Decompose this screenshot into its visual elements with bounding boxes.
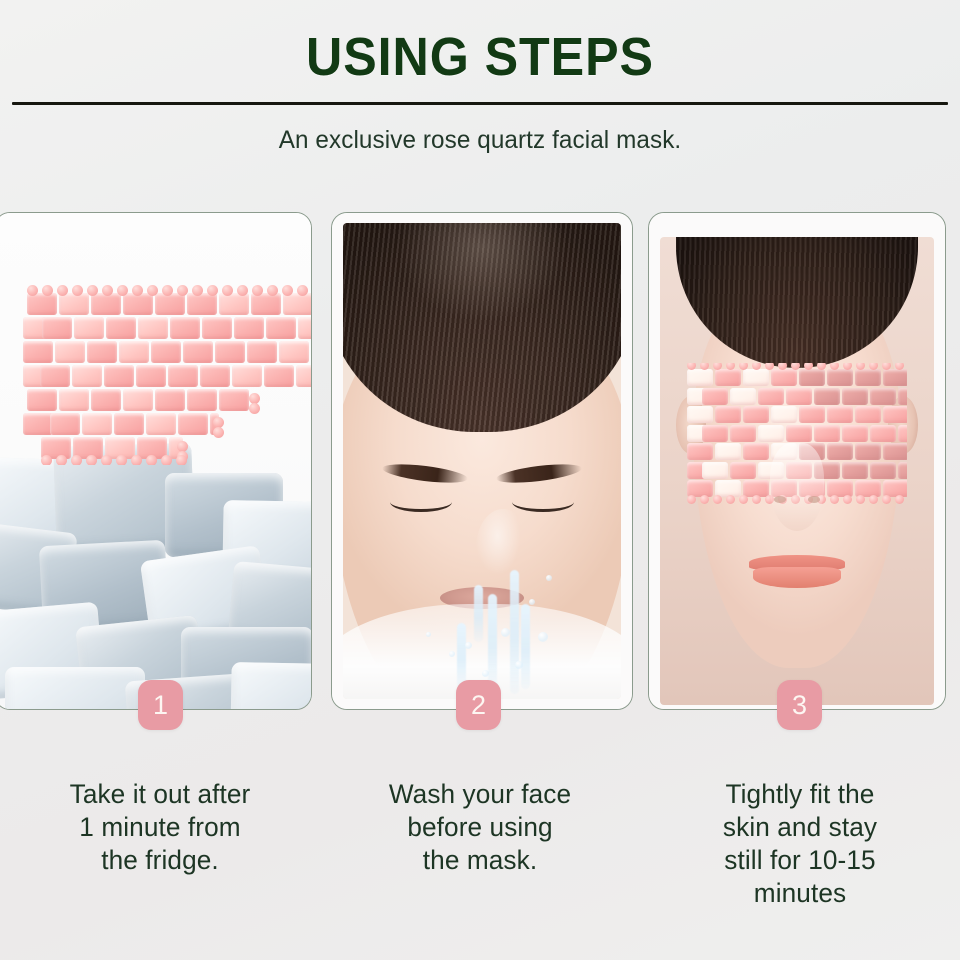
quartz-tile (883, 406, 906, 423)
washing-face-photo (343, 223, 621, 699)
quartz-tile (87, 341, 117, 363)
mask-edge-bead (687, 495, 696, 504)
mask-edge-bead (252, 285, 263, 296)
mask-edge-bead (71, 455, 82, 465)
step-caption-3: Tightly fit the skin and stay still for … (645, 778, 955, 910)
rose-quartz-mask-product (23, 285, 311, 465)
steps-gallery: 1 2 3 (0, 212, 960, 732)
mask-edge-bead (297, 285, 308, 296)
quartz-tile (743, 406, 769, 423)
mask-edge-bead (177, 285, 188, 296)
mask-edge-bead (882, 495, 891, 504)
quartz-tile (74, 317, 104, 339)
quartz-tile (136, 365, 166, 387)
mask-edge-bead (752, 495, 761, 504)
nose (476, 509, 530, 587)
quartz-tile (730, 425, 756, 442)
water-stream (521, 604, 530, 690)
quartz-tile (715, 406, 741, 423)
mask-edge-bead (132, 285, 143, 296)
quartz-tile (855, 406, 881, 423)
quartz-tile (898, 425, 906, 442)
mask-edge-bead (41, 455, 52, 465)
nose (770, 443, 824, 531)
eye-left (390, 492, 452, 512)
page-header: USING STEPS An exclusive rose quartz fac… (0, 0, 960, 155)
quartz-tile (104, 365, 134, 387)
lips (749, 555, 845, 589)
quartz-tile (870, 425, 896, 442)
quartz-tile (814, 388, 840, 405)
quartz-tile (743, 443, 769, 460)
quartz-tile (247, 341, 277, 363)
quartz-tile (187, 389, 217, 411)
quartz-tile (687, 443, 713, 460)
mask-edge-bead (161, 455, 172, 465)
quartz-tile (123, 293, 153, 315)
quartz-tile (202, 317, 232, 339)
quartz-tile (155, 389, 185, 411)
quartz-tile (283, 293, 311, 315)
quartz-tile (251, 293, 281, 315)
quartz-tile (219, 389, 249, 411)
quartz-tile (743, 369, 769, 386)
quartz-tile (59, 389, 89, 411)
mask-edge-bead (713, 495, 722, 504)
step-panel-3[interactable] (648, 212, 946, 710)
quartz-tile (786, 388, 812, 405)
mask-edge-bead (267, 285, 278, 296)
quartz-tile (799, 406, 825, 423)
quartz-tile (702, 425, 728, 442)
mask-edge-bead (131, 455, 142, 465)
step-1-image (0, 213, 311, 709)
quartz-tile (27, 293, 57, 315)
water-stream (474, 585, 483, 642)
quartz-tile (687, 406, 713, 423)
quartz-tile (151, 341, 181, 363)
header-divider (12, 102, 948, 105)
step-2-image (343, 223, 621, 699)
quartz-tile (114, 413, 144, 435)
quartz-tile (715, 369, 741, 386)
mask-edge-bead (102, 285, 113, 296)
mask-edge-bead (700, 495, 709, 504)
mask-edge-bead (222, 285, 233, 296)
quartz-tile (155, 293, 185, 315)
quartz-tile (266, 317, 296, 339)
mask-edge-bead (192, 285, 203, 296)
mask-edge-bead (176, 455, 187, 465)
hair (343, 223, 621, 432)
quartz-tile (23, 341, 53, 363)
quartz-tile (106, 317, 136, 339)
mask-edge-bead (57, 285, 68, 296)
quartz-tile (771, 369, 797, 386)
quartz-tile (23, 413, 53, 435)
mask-edge-bead (843, 495, 852, 504)
quartz-tile (146, 413, 176, 435)
step-2-frame (332, 213, 632, 709)
ice-cubes-group (0, 431, 311, 709)
mask-edge-bead (282, 285, 293, 296)
quartz-tile (870, 462, 896, 479)
quartz-tile (898, 462, 906, 479)
mask-edge-bead (42, 285, 53, 296)
mask-edge-bead (830, 495, 839, 504)
quartz-tile (123, 389, 153, 411)
quartz-tile (72, 365, 102, 387)
mask-edge-bead (739, 495, 748, 504)
nostril-left (774, 496, 786, 503)
quartz-tile (296, 365, 311, 387)
step-number-badge-2: 2 (456, 680, 501, 730)
mask-edge-bead (856, 495, 865, 504)
quartz-tile (702, 388, 728, 405)
quartz-tile (814, 425, 840, 442)
mask-edge-bead (146, 455, 157, 465)
quartz-tile (298, 317, 311, 339)
page-subtitle: An exclusive rose quartz facial mask. (14, 125, 945, 155)
mask-edge-bead (117, 285, 128, 296)
step-caption-1: Take it out after 1 minute from the frid… (5, 778, 315, 910)
quartz-tile (170, 317, 200, 339)
quartz-tile (758, 425, 784, 442)
quartz-tile (730, 462, 756, 479)
quartz-tile (219, 293, 249, 315)
page-title: USING STEPS (34, 26, 927, 88)
step-panel-1[interactable] (0, 212, 312, 710)
mask-edge-bead (87, 285, 98, 296)
mask-edge-bead (101, 455, 112, 465)
mask-edge-bead (56, 455, 67, 465)
mask-edge-bead (895, 495, 904, 504)
nostril-right (808, 496, 820, 503)
mask-edge-bead (207, 285, 218, 296)
quartz-tile (279, 341, 309, 363)
mask-edge-bead (86, 455, 97, 465)
quartz-tile (687, 369, 713, 386)
quartz-tile (883, 443, 906, 460)
mask-edge-bead (249, 403, 260, 414)
step-caption-2: Wash your face before using the mask. (325, 778, 635, 910)
mask-edge-bead (147, 285, 158, 296)
quartz-tile (91, 293, 121, 315)
quartz-tile (855, 443, 881, 460)
quartz-tile (264, 365, 294, 387)
quartz-tile (842, 388, 868, 405)
step-number-badge-1: 1 (138, 680, 183, 730)
mask-edge-bead (213, 427, 224, 438)
quartz-tile (827, 406, 853, 423)
quartz-tile (870, 388, 896, 405)
quartz-tile (883, 369, 906, 386)
step-captions: Take it out after 1 minute from the frid… (0, 778, 960, 910)
quartz-tile (702, 462, 728, 479)
quartz-tile (183, 341, 213, 363)
quartz-tile (234, 317, 264, 339)
lower-lip (753, 567, 841, 588)
mask-edge-bead (72, 285, 83, 296)
water-droplet (538, 632, 548, 642)
step-panel-2[interactable] (331, 212, 633, 710)
quartz-tile (730, 388, 756, 405)
step-3-frame (649, 213, 945, 709)
quartz-tile (187, 293, 217, 315)
step-3-image (660, 237, 934, 705)
quartz-tile (842, 462, 868, 479)
quartz-tile (168, 365, 198, 387)
quartz-tile (178, 413, 208, 435)
quartz-tile (119, 341, 149, 363)
quartz-tile (827, 443, 853, 460)
quartz-tile (82, 413, 112, 435)
quartz-tile (200, 365, 230, 387)
mask-edge-bead (237, 285, 248, 296)
mask-edge-bead (726, 495, 735, 504)
quartz-tile (27, 389, 57, 411)
quartz-tile (91, 389, 121, 411)
mask-edge-bead (162, 285, 173, 296)
quartz-tile (138, 317, 168, 339)
quartz-tile (55, 341, 85, 363)
step-number-badge-3: 3 (777, 680, 822, 730)
quartz-tile (758, 388, 784, 405)
ice-cube (5, 667, 145, 709)
quartz-tile (827, 369, 853, 386)
water-stream (510, 570, 519, 694)
quartz-tile (771, 406, 797, 423)
quartz-tile (40, 365, 70, 387)
mask-worn-photo (660, 237, 934, 705)
quartz-tile (215, 341, 245, 363)
quartz-tile (855, 369, 881, 386)
mask-edge-bead (27, 285, 38, 296)
eye-right (512, 492, 574, 512)
quartz-tile (232, 365, 262, 387)
quartz-tile (715, 443, 741, 460)
mask-edge-bead (116, 455, 127, 465)
water-stream (488, 594, 497, 689)
quartz-tile (42, 317, 72, 339)
quartz-tile (50, 413, 80, 435)
quartz-tile (786, 425, 812, 442)
quartz-tile (898, 388, 906, 405)
mask-edge-bead (817, 363, 826, 370)
quartz-tile (59, 293, 89, 315)
mask-edge-bead (869, 495, 878, 504)
quartz-tile (842, 425, 868, 442)
ice-cube (230, 662, 311, 709)
quartz-tile (799, 369, 825, 386)
